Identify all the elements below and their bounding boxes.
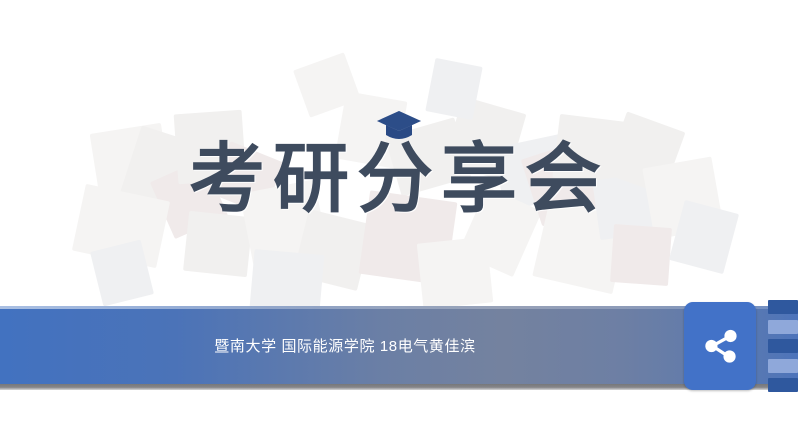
edge-bar[interactable] [768, 300, 798, 314]
bg-card [293, 52, 361, 117]
footer-band-shadow [0, 384, 798, 390]
bg-card [417, 237, 494, 306]
bg-card [250, 249, 325, 306]
edge-bar-stack [768, 300, 798, 392]
edge-bar[interactable] [768, 339, 798, 353]
edge-bar[interactable] [768, 359, 798, 373]
bg-card [90, 240, 154, 306]
page-title: 考研分享会 [0, 137, 798, 223]
bg-card [425, 58, 482, 120]
edge-bar[interactable] [768, 320, 798, 334]
bg-card [610, 224, 672, 286]
presentation-slide: 考研分享会 暨南大学 国际能源学院 18电气黄佳滨 [0, 0, 798, 441]
edge-bar[interactable] [768, 378, 798, 392]
subtitle-text: 暨南大学 国际能源学院 18电气黄佳滨 [0, 306, 690, 384]
share-button[interactable] [684, 302, 756, 390]
share-network-icon [699, 325, 741, 367]
